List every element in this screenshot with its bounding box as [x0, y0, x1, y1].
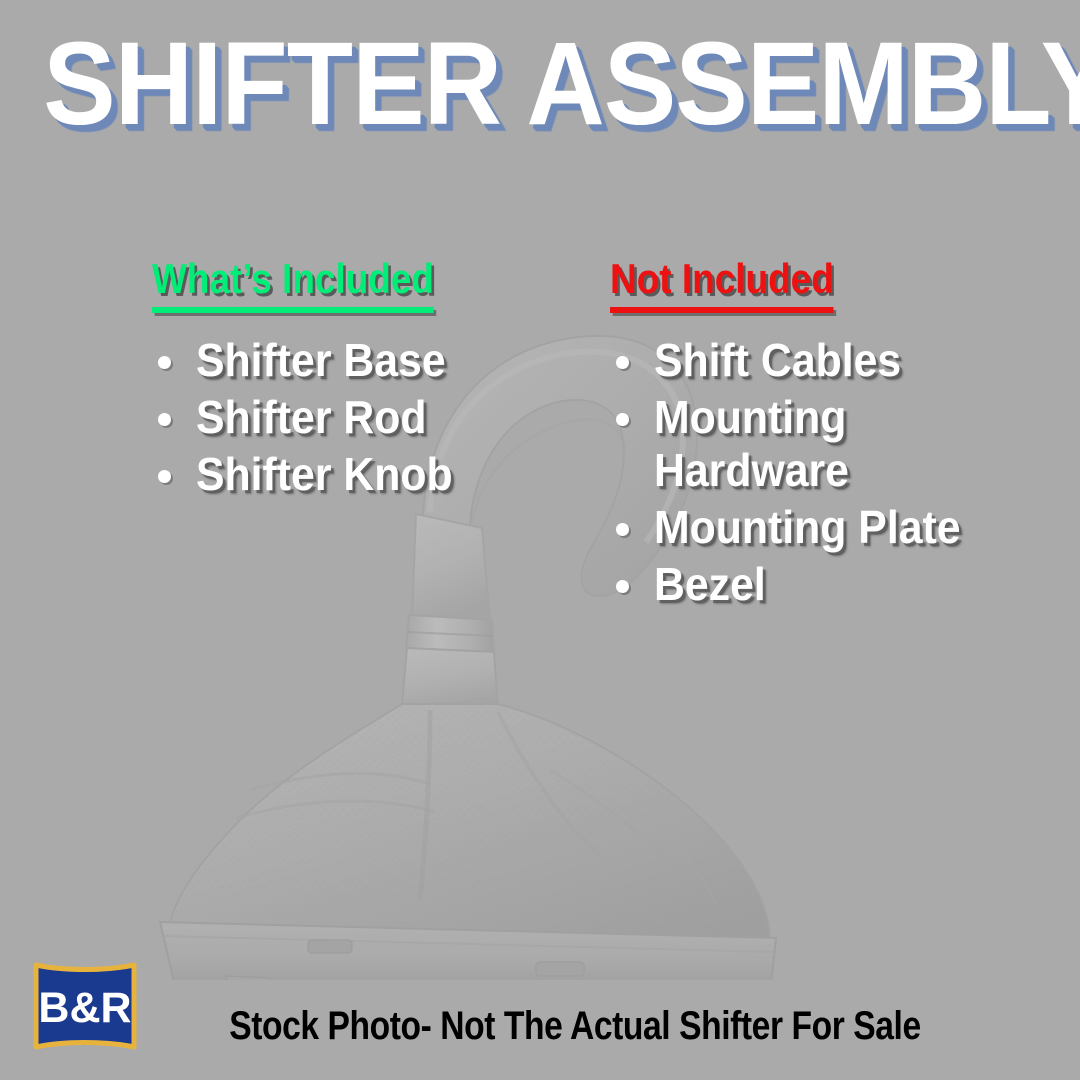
included-column: What’s Included Shifter Base Shifter Rod…	[152, 256, 572, 505]
excluded-list: Shift Cables Mounting Hardware Mounting …	[610, 334, 1010, 611]
included-item-label: Shifter Base	[196, 334, 546, 387]
list-item: Mounting Plate	[610, 501, 1010, 554]
excluded-item-label: Shift Cables	[654, 334, 985, 387]
excluded-item-label: Mounting Hardware	[654, 391, 985, 497]
included-heading: What’s Included	[152, 256, 434, 316]
bullet-icon	[158, 356, 171, 369]
product-graphic-canvas: SHIFTER ASSEMBLY What’s Included Shifter…	[0, 0, 1080, 1080]
excluded-heading-label: Not Included	[610, 255, 834, 302]
bullet-icon	[158, 413, 171, 426]
included-heading-label: What’s Included	[152, 255, 434, 302]
bullet-icon	[616, 356, 629, 369]
bullet-icon	[616, 413, 629, 426]
list-item: Shifter Base	[152, 334, 572, 387]
excluded-heading-underline	[610, 307, 834, 313]
list-item: Shifter Knob	[152, 448, 572, 501]
included-heading-underline	[152, 307, 434, 313]
stock-photo-disclaimer: Stock Photo- Not The Actual Shifter For …	[229, 1004, 851, 1048]
list-item: Shifter Rod	[152, 391, 572, 444]
bullet-icon	[616, 580, 629, 593]
list-item: Shift Cables	[610, 334, 1010, 387]
included-item-label: Shifter Rod	[196, 391, 546, 444]
page-title: SHIFTER ASSEMBLY	[43, 28, 1037, 140]
list-item: Bezel	[610, 558, 1010, 611]
excluded-item-label: Mounting Plate	[654, 501, 985, 554]
excluded-column: Not Included Shift Cables Mounting Hardw…	[610, 256, 1010, 615]
excluded-item-label: Bezel	[654, 558, 985, 611]
bullet-icon	[616, 523, 629, 536]
bullet-icon	[158, 470, 171, 483]
excluded-heading: Not Included	[610, 256, 834, 316]
list-item: Mounting Hardware	[610, 391, 1010, 497]
br-logo-text: B&R	[38, 984, 131, 1032]
included-item-label: Shifter Knob	[196, 448, 546, 501]
included-list: Shifter Base Shifter Rod Shifter Knob	[152, 334, 572, 501]
br-logo: B&R	[26, 960, 144, 1052]
